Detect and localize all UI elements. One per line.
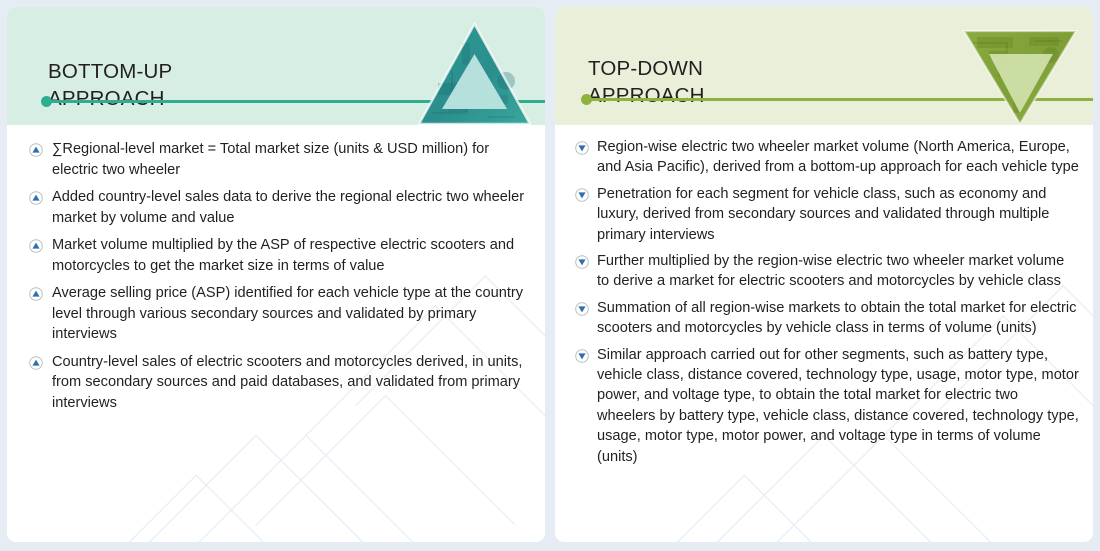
list-item: Added country-level sales data to derive… xyxy=(29,187,527,228)
triangle-down-bullet-icon xyxy=(575,188,589,202)
list-item: Country-level sales of electric scooters… xyxy=(29,352,527,414)
list-item-text: Country-level sales of electric scooters… xyxy=(52,352,527,414)
list-item-text: Similar approach carried out for other s… xyxy=(597,345,1079,467)
triangle-down-bullet-icon xyxy=(575,141,589,155)
triangle-up-bullet-icon xyxy=(29,191,43,205)
list-item: Further multiplied by the region-wise el… xyxy=(575,251,1079,292)
list-item-text: Summation of all region-wise markets to … xyxy=(597,298,1079,339)
triangle-up-bullet-icon xyxy=(29,287,43,301)
list-item-text: Region-wise electric two wheeler market … xyxy=(597,137,1079,178)
list-item: Market volume multiplied by the ASP of r… xyxy=(29,235,527,276)
list-item-text: Market volume multiplied by the ASP of r… xyxy=(52,235,527,276)
methodology-diagram: BOTTOM-UP APPROACH xyxy=(0,0,1100,551)
triangle-up-icon xyxy=(418,21,531,125)
header-bottom-up: BOTTOM-UP APPROACH xyxy=(7,7,545,125)
list-item: Summation of all region-wise markets to … xyxy=(575,298,1079,339)
list-item-text: Further multiplied by the region-wise el… xyxy=(597,251,1079,292)
triangle-up-bullet-icon xyxy=(29,143,43,157)
header-top-down: TOP-DOWN APPROACH xyxy=(555,7,1093,125)
panel-title-bottom-up: BOTTOM-UP APPROACH xyxy=(48,58,172,112)
triangle-down-bullet-icon xyxy=(575,302,589,316)
list-item: Region-wise electric two wheeler market … xyxy=(575,137,1079,178)
triangle-down-icon xyxy=(959,21,1081,125)
triangle-up-bullet-icon xyxy=(29,239,43,253)
list-item-text: ∑Regional-level market = Total market si… xyxy=(52,139,527,180)
list-item: Similar approach carried out for other s… xyxy=(575,345,1079,467)
triangle-up-bullet-icon xyxy=(29,356,43,370)
list-item-text: Penetration for each segment for vehicle… xyxy=(597,184,1079,245)
triangle-down-bullet-icon xyxy=(575,349,589,363)
panel-bottom-up: BOTTOM-UP APPROACH xyxy=(7,7,545,542)
list-item: Penetration for each segment for vehicle… xyxy=(575,184,1079,245)
bullet-list-bottom-up: ∑Regional-level market = Total market si… xyxy=(7,125,545,413)
bullet-list-top-down: Region-wise electric two wheeler market … xyxy=(555,125,1093,467)
list-item-text: Added country-level sales data to derive… xyxy=(52,187,527,228)
list-item: Average selling price (ASP) identified f… xyxy=(29,283,527,345)
triangle-down-bullet-icon xyxy=(575,255,589,269)
list-item: ∑Regional-level market = Total market si… xyxy=(29,139,527,180)
list-item-text: Average selling price (ASP) identified f… xyxy=(52,283,527,345)
panel-top-down: TOP-DOWN APPROACH xyxy=(555,7,1093,542)
